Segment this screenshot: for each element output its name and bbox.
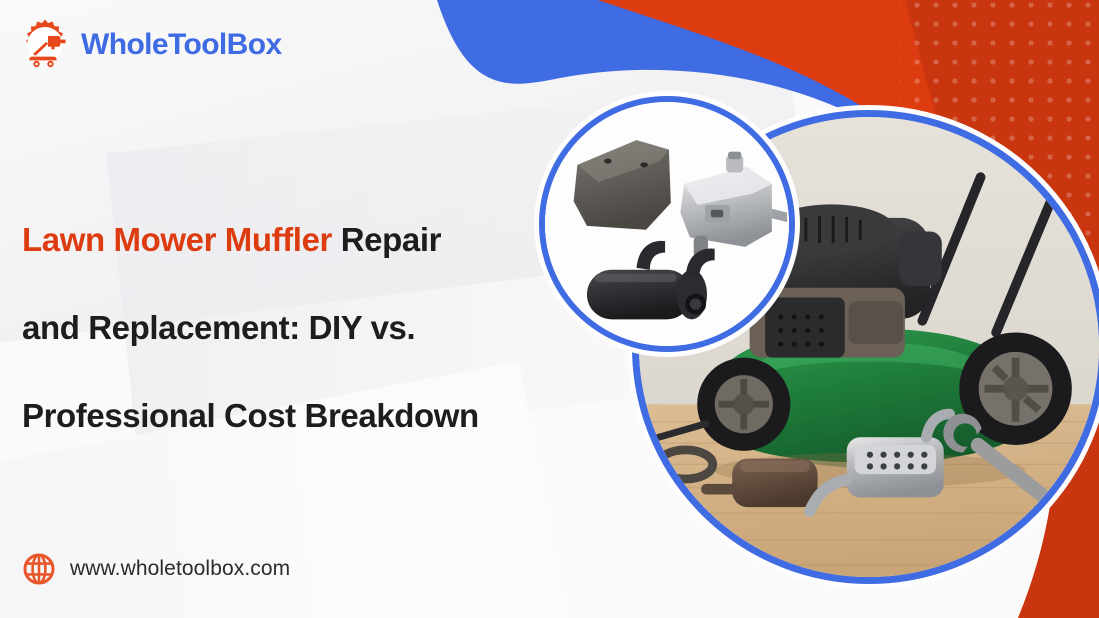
globe-icon xyxy=(22,552,56,586)
headline-line-1: Lawn Mower Muffler Repair xyxy=(22,196,582,284)
page-title: Lawn Mower Muffler Repair and Replacemen… xyxy=(22,196,582,460)
website-url[interactable]: www.wholetoolbox.com xyxy=(22,552,290,586)
blog-banner: WholeToolBox Lawn Mower Muffler Repair a… xyxy=(0,0,1099,618)
headline-line-2: and Replacement: DIY vs. xyxy=(22,284,582,372)
headline-line-1-rest: Repair xyxy=(332,221,441,258)
brand-name: WholeToolBox xyxy=(81,28,282,62)
headline-accent: Lawn Mower Muffler xyxy=(22,221,332,258)
gear-drill-icon xyxy=(18,18,72,72)
brand-logo[interactable]: WholeToolBox xyxy=(18,18,282,72)
headline-line-3: Professional Cost Breakdown xyxy=(22,372,582,460)
website-url-text: www.wholetoolbox.com xyxy=(70,557,290,581)
